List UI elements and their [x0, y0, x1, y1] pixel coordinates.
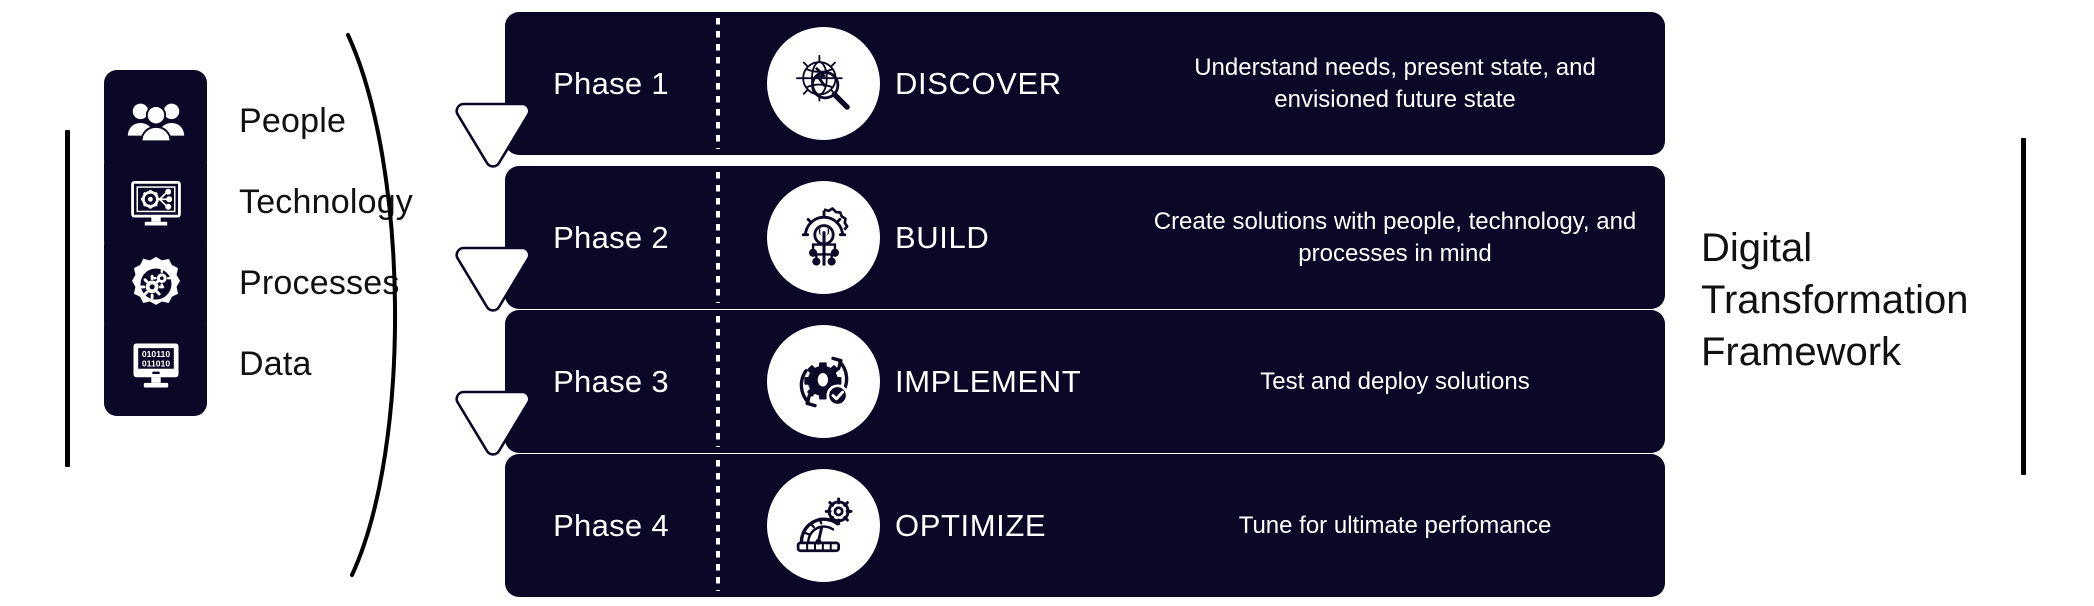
- phase-icon-circle-3: [767, 325, 880, 438]
- phase-divider-4: [716, 460, 720, 591]
- framework-title-line-1: Digital: [1701, 222, 2001, 274]
- binary-text-top: 010110: [141, 348, 169, 358]
- title-vertical-rule: [2021, 138, 2026, 475]
- pillars-bracket-line: [65, 130, 70, 467]
- phase-bar-3[interactable]: Phase 3: [505, 310, 1665, 453]
- diagram-canvas: People: [0, 0, 2094, 606]
- phase-divider-3: [716, 316, 720, 447]
- pillar-tile-data: 010110 011010: [104, 313, 207, 416]
- framework-title-line-2: Transformation: [1701, 274, 2001, 326]
- phase-flow-group: Phase 1: [505, 0, 1665, 606]
- gears-badge-icon: [125, 253, 187, 315]
- gear-refresh-check-icon: [788, 346, 860, 418]
- phase-title-1: DISCOVER: [895, 12, 1145, 155]
- phase-title-2: BUILD: [895, 166, 1145, 309]
- phase-connector-arrow-3: [425, 384, 545, 464]
- monitor-gear-network-icon: [126, 173, 186, 233]
- phase-icon-circle-4: [767, 469, 880, 582]
- gauge-gear-icon: [788, 490, 860, 562]
- phase-connector-arrow-2: [425, 240, 545, 320]
- pillar-item-data[interactable]: 010110 011010 Data: [104, 313, 312, 416]
- binary-text-bottom: 011010: [141, 358, 169, 368]
- phase-description-2: Create solutions with people, technology…: [1125, 166, 1665, 309]
- phase-description-4: Tune for ultimate perfomance: [1125, 454, 1665, 597]
- phase-icon-circle-1: [767, 27, 880, 140]
- pillar-label-data: Data: [239, 345, 312, 384]
- phase-divider-1: [716, 18, 720, 149]
- gear-wrench-circuit-icon: [789, 203, 859, 273]
- phase-icon-circle-2: [767, 181, 880, 294]
- monitor-binary-icon: 010110 011010: [126, 335, 186, 395]
- phase-title-4: OPTIMIZE: [895, 454, 1145, 597]
- phase-label-4: Phase 4: [505, 454, 717, 597]
- phase-description-1: Understand needs, present state, and env…: [1125, 12, 1665, 155]
- phase-divider-2: [716, 172, 720, 303]
- people-group-icon: [125, 91, 187, 153]
- phase-bar-1[interactable]: Phase 1: [505, 12, 1665, 155]
- framework-title-line-3: Framework: [1701, 326, 2001, 378]
- globe-magnifier-icon: [787, 47, 861, 121]
- phase-bar-2[interactable]: Phase 2: [505, 166, 1665, 309]
- pillars-group: People: [0, 0, 470, 606]
- framework-title: Digital Transformation Framework: [1701, 222, 2001, 378]
- framework-title-group: Digital Transformation Framework: [1700, 0, 2094, 606]
- phase-connector-arrow-1: [425, 96, 545, 176]
- phase-bar-4[interactable]: Phase 4: [505, 454, 1665, 597]
- phase-title-3: IMPLEMENT: [895, 310, 1145, 453]
- phase-description-3: Test and deploy solutions: [1125, 310, 1665, 453]
